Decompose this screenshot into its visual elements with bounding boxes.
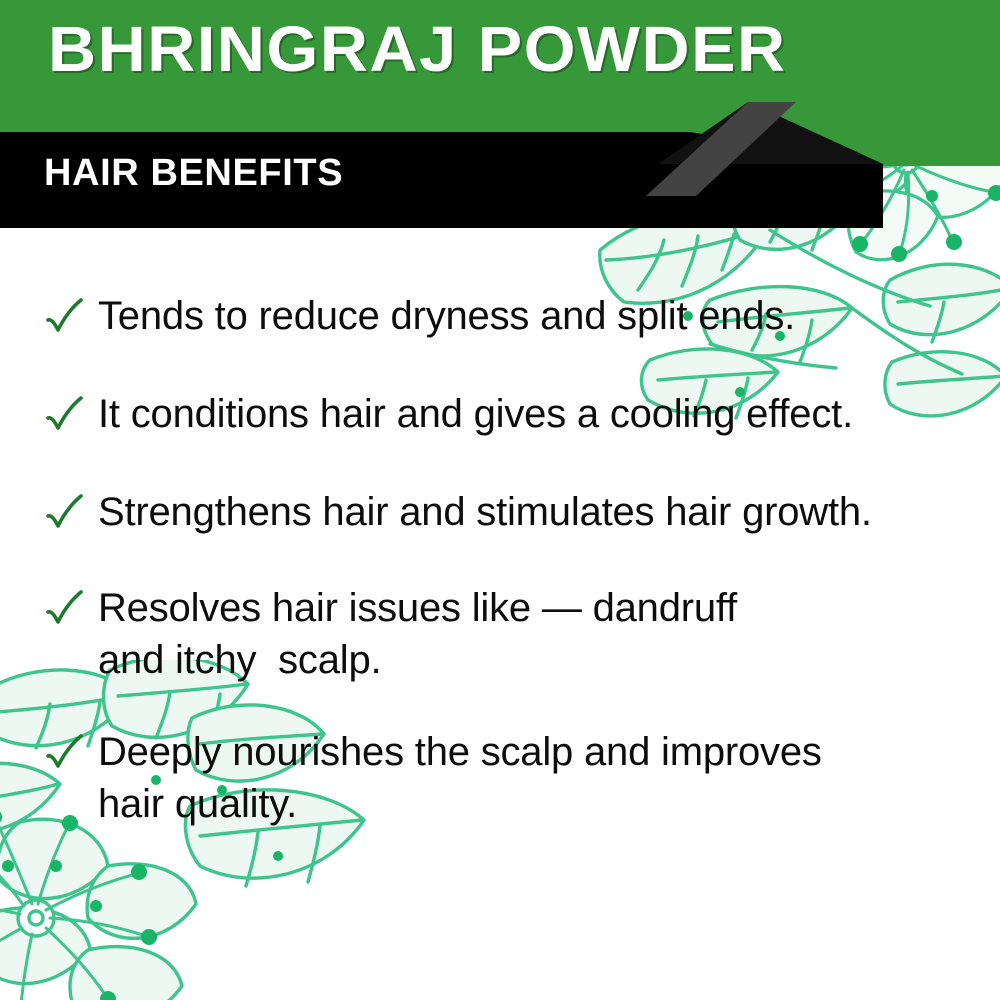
check-mark-icon (44, 490, 84, 534)
page-title: BHRINGRAJ POWDER (48, 17, 787, 81)
chevron-accent-icon (600, 98, 900, 230)
list-item-label: It conditions hair and gives a cooling e… (98, 388, 853, 440)
list-item: Strengthens hair and stimulates hair gro… (0, 486, 1000, 538)
list-item: Tends to reduce dryness and split ends. (0, 290, 1000, 342)
list-item-label: Deeply nourishes the scalp and improves … (98, 726, 822, 830)
list-item: It conditions hair and gives a cooling e… (0, 388, 1000, 440)
list-item-label: Tends to reduce dryness and split ends. (98, 290, 795, 342)
check-mark-icon (44, 294, 84, 338)
check-mark-icon (44, 730, 84, 774)
list-item-label: Strengthens hair and stimulates hair gro… (98, 486, 872, 538)
section-subtitle: HAIR BENEFITS (44, 154, 343, 192)
list-item: Resolves hair issues like — dandruff and… (0, 582, 1000, 686)
list-item-label: Resolves hair issues like — dandruff and… (98, 582, 737, 686)
benefits-list: Tends to reduce dryness and split ends. … (0, 290, 1000, 830)
list-item: Deeply nourishes the scalp and improves … (0, 726, 1000, 830)
check-mark-icon (44, 586, 84, 630)
check-mark-icon (44, 392, 84, 436)
product-benefits-infographic: BHRINGRAJ POWDER HAIR BENEFITS Tends to … (0, 0, 1000, 1000)
